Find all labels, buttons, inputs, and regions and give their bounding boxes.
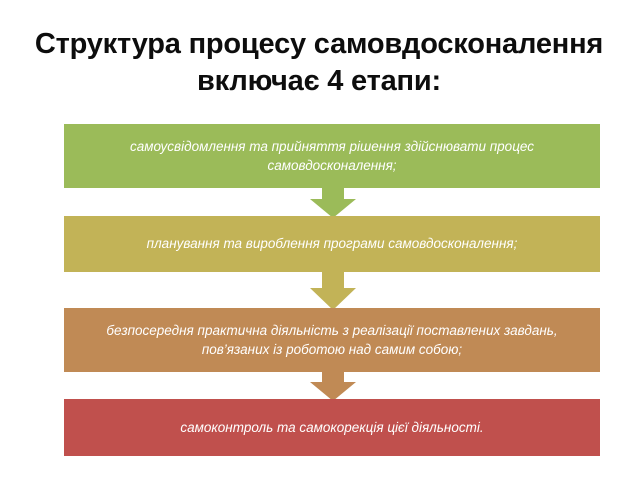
process-step-3-label: безпосередня практична діяльність з реал… — [80, 321, 584, 359]
process-step-4-label: самоконтроль та самокорекція цієї діяльн… — [80, 418, 584, 437]
down-arrow-icon-3 — [310, 366, 356, 401]
slide-canvas: Структура процесу самовдосконалення вклю… — [0, 0, 638, 479]
process-step-1[interactable]: самоусвідомлення та прийняття рішення зд… — [64, 124, 600, 188]
process-step-3[interactable]: безпосередня практична діяльність з реал… — [64, 308, 600, 372]
page-title: Структура процесу самовдосконалення вклю… — [24, 26, 614, 100]
process-flow-diagram: самоусвідомлення та прийняття рішення зд… — [64, 124, 600, 456]
down-arrow-icon-2 — [310, 266, 356, 310]
down-arrow-shape-1 — [310, 182, 356, 218]
process-step-1-label: самоусвідомлення та прийняття рішення зд… — [80, 137, 584, 175]
process-step-2-label: планування та вироблення програми самовд… — [80, 234, 584, 253]
process-step-2[interactable]: планування та вироблення програми самовд… — [64, 216, 600, 272]
down-arrow-shape-3 — [310, 366, 356, 401]
down-arrow-shape-2 — [310, 266, 356, 310]
process-step-4[interactable]: самоконтроль та самокорекція цієї діяльн… — [64, 399, 600, 456]
down-arrow-icon-1 — [310, 182, 356, 218]
